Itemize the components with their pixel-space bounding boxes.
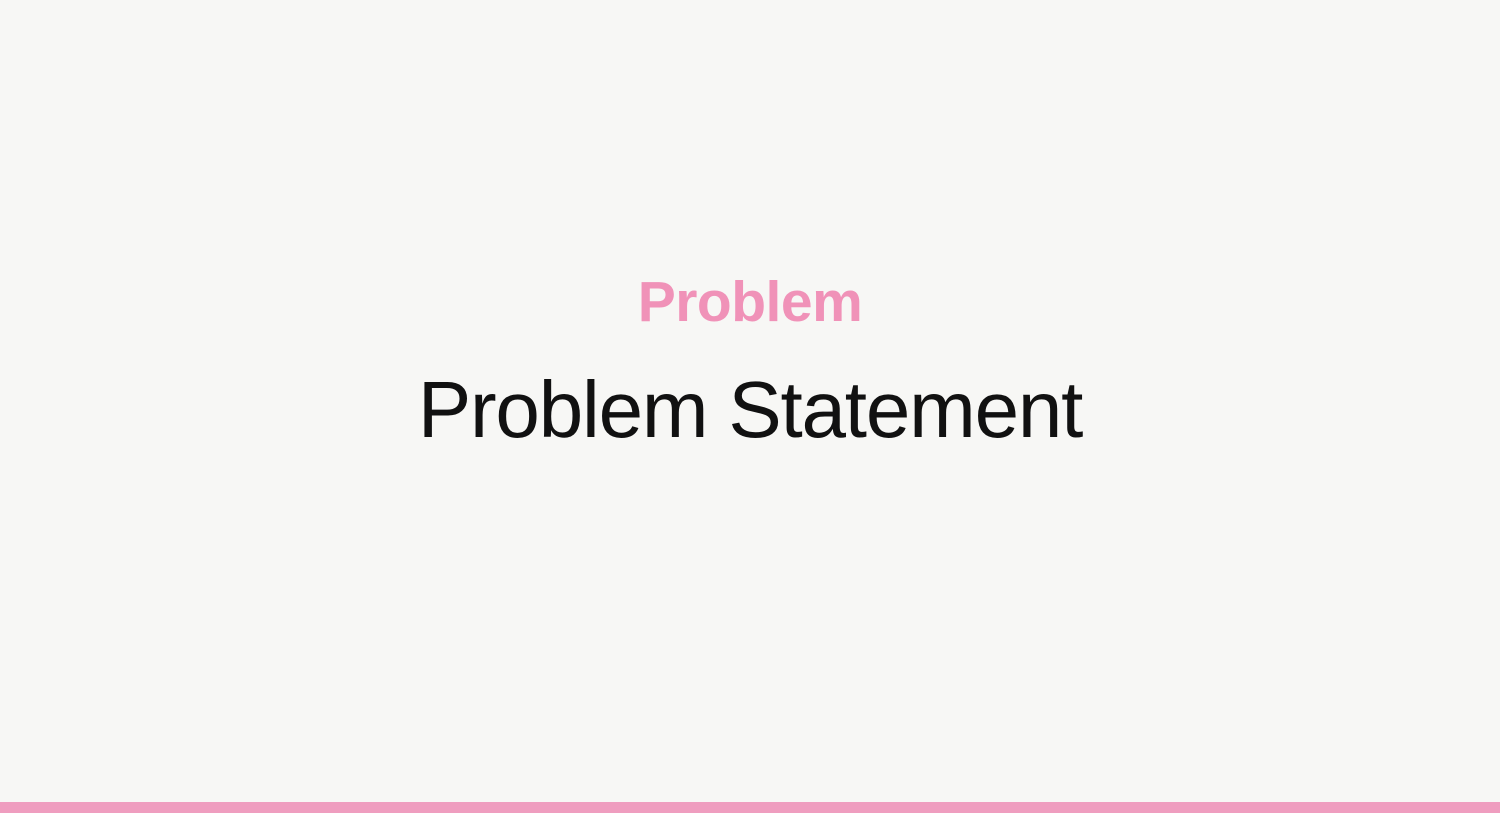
title-block: Problem Problem Statement [0,274,1500,453]
slide-title: Problem Statement [418,367,1082,453]
slide-content-area: Problem Problem Statement [0,0,1500,802]
presentation-slide: Problem Problem Statement [0,0,1500,813]
section-eyebrow-label: Problem [638,274,863,331]
bottom-accent-bar [0,802,1500,813]
